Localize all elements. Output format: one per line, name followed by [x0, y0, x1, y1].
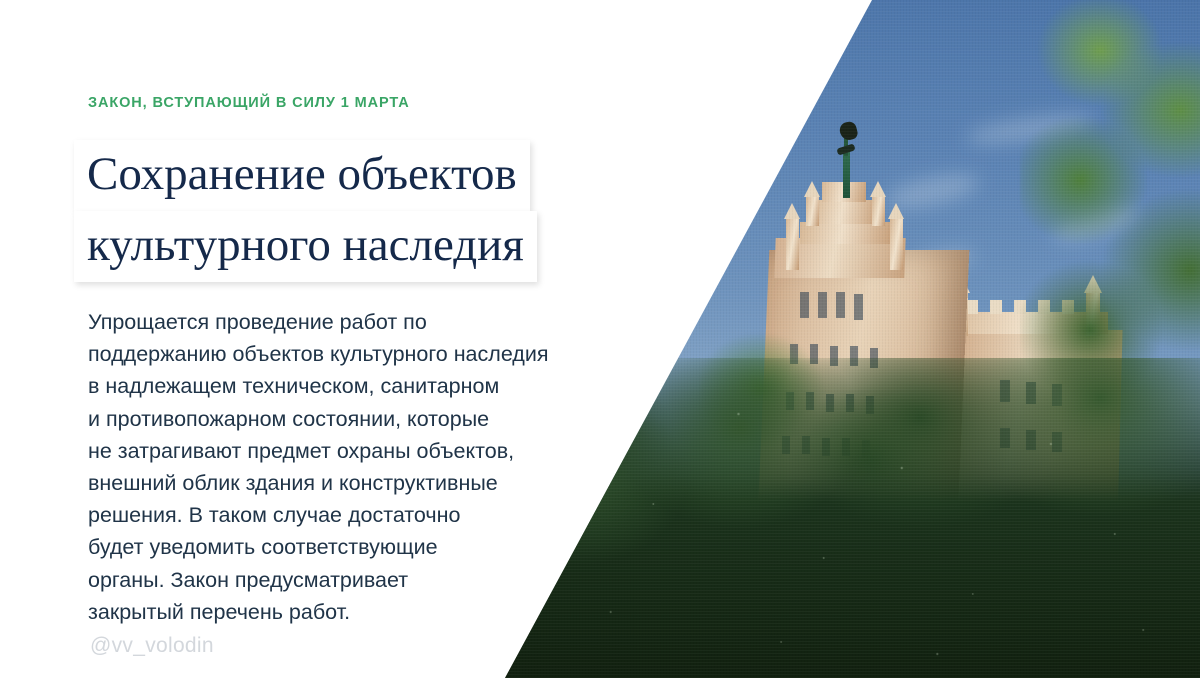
- body-line: органы. Закон предусматривает: [88, 564, 688, 596]
- kicker-label: ЗАКОН, ВСТУПАЮЩИЙ В СИЛУ 1 МАРТА: [88, 95, 410, 111]
- window: [836, 292, 845, 318]
- window: [800, 292, 809, 318]
- body-line: решения. В таком случае достаточно: [88, 499, 688, 531]
- text-content: ЗАКОН, ВСТУПАЮЩИЙ В СИЛУ 1 МАРТА Сохране…: [0, 0, 700, 678]
- author-handle: @vv_volodin: [90, 634, 214, 658]
- body-line: в надлежащем техническом, санитарном: [88, 370, 688, 402]
- tower-turret: [890, 218, 903, 270]
- body-line: и противопожарном состоянии, которые: [88, 403, 688, 435]
- headline-line-1: Сохранение объектов: [74, 140, 530, 211]
- headline-line-2: культурного наследия: [74, 211, 537, 282]
- tower-crown-tier: [812, 200, 878, 224]
- tower-turret: [872, 196, 885, 226]
- spire-icon: [843, 152, 850, 198]
- tower-turret: [786, 218, 799, 270]
- body-line: внешний облик здания и конструктивные: [88, 467, 688, 499]
- window: [854, 294, 863, 320]
- slide-root: ЗАКОН, ВСТУПАЮЩИЙ В СИЛУ 1 МАРТА Сохране…: [0, 0, 1200, 678]
- page-title: Сохранение объектов культурного наследия: [74, 140, 694, 282]
- body-line: будет уведомить соответствующие: [88, 531, 688, 563]
- body-line: поддержанию объектов культурного наследи…: [88, 338, 688, 370]
- body-line: Упрощается проведение работ по: [88, 306, 688, 338]
- window: [818, 292, 827, 318]
- tree-foliage-right: [1020, 0, 1200, 420]
- body-line: не затрагивают предмет охраны объектов,: [88, 435, 688, 467]
- merlon: [990, 300, 1002, 314]
- tower-turret: [806, 196, 819, 226]
- body-line: закрытый перечень работ.: [88, 596, 688, 628]
- body-copy: Упрощается проведение работ по поддержан…: [88, 306, 688, 628]
